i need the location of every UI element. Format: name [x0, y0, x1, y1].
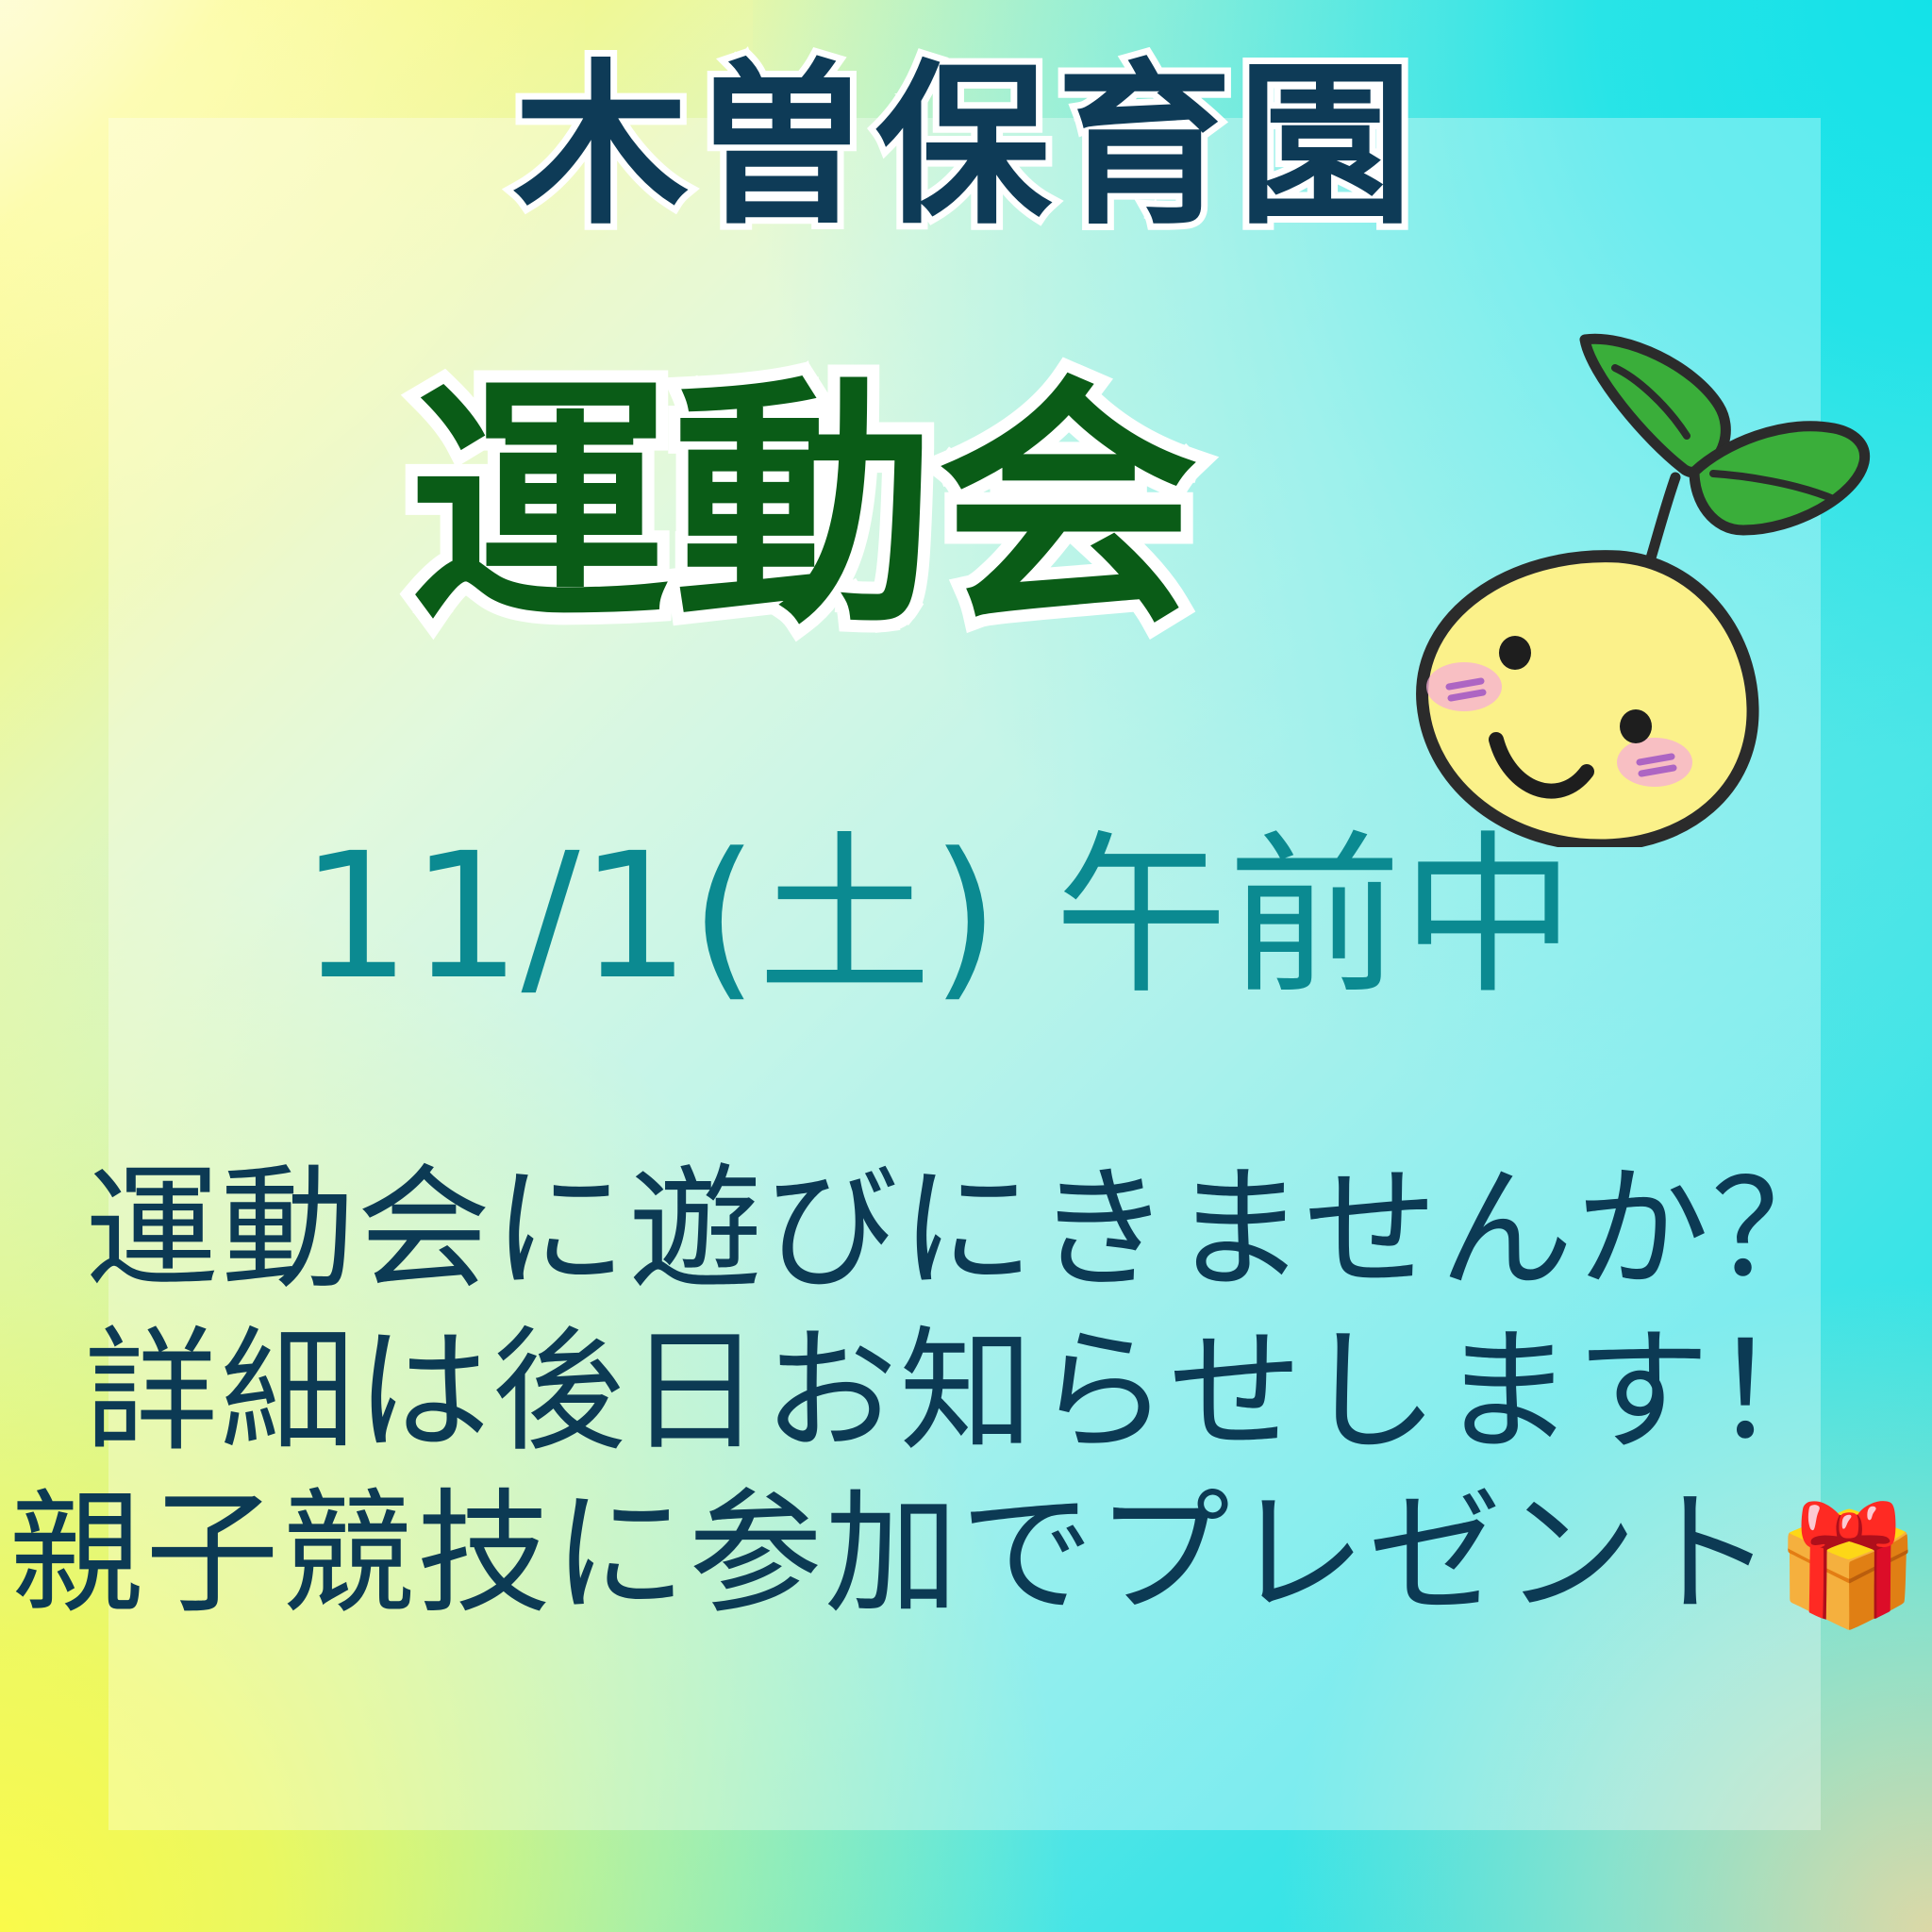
body-line-3-text: 親子競技に参加でプレゼント — [9, 1476, 1775, 1632]
body-line-3: 親子競技に参加でプレゼント🎁 — [0, 1474, 1932, 1647]
eye-left — [1499, 636, 1531, 670]
lemon-sprout-illustration — [1343, 300, 1890, 847]
blush-right — [1617, 738, 1692, 787]
blush-left — [1426, 662, 1502, 711]
body-text-block: 運動会に遊びにきませんか？ 詳細は後日お知らせします！ 親子競技に参加でプレゼン… — [0, 1149, 1932, 1647]
body-line-1: 運動会に遊びにきませんか？ — [0, 1149, 1932, 1311]
event-date-time: 11/1(土) 午前中 — [0, 830, 1932, 1004]
body-line-2: 詳細は後日お知らせします！ — [0, 1311, 1932, 1474]
poster-canvas: 木曽保育園 運動会 11/1(土) 午前中 運動会に遊びにきませんか？ 詳細は後… — [0, 0, 1932, 1932]
gift-box-icon: 🎁 — [1775, 1498, 1923, 1634]
lemon-sprout-mascot — [1343, 300, 1890, 847]
poster-content: 木曽保育園 運動会 11/1(土) 午前中 運動会に遊びにきませんか？ 詳細は後… — [0, 0, 1932, 1932]
leaf-left — [1585, 339, 1725, 472]
school-name-title: 木曽保育園 — [0, 58, 1932, 234]
eye-right — [1620, 709, 1652, 743]
